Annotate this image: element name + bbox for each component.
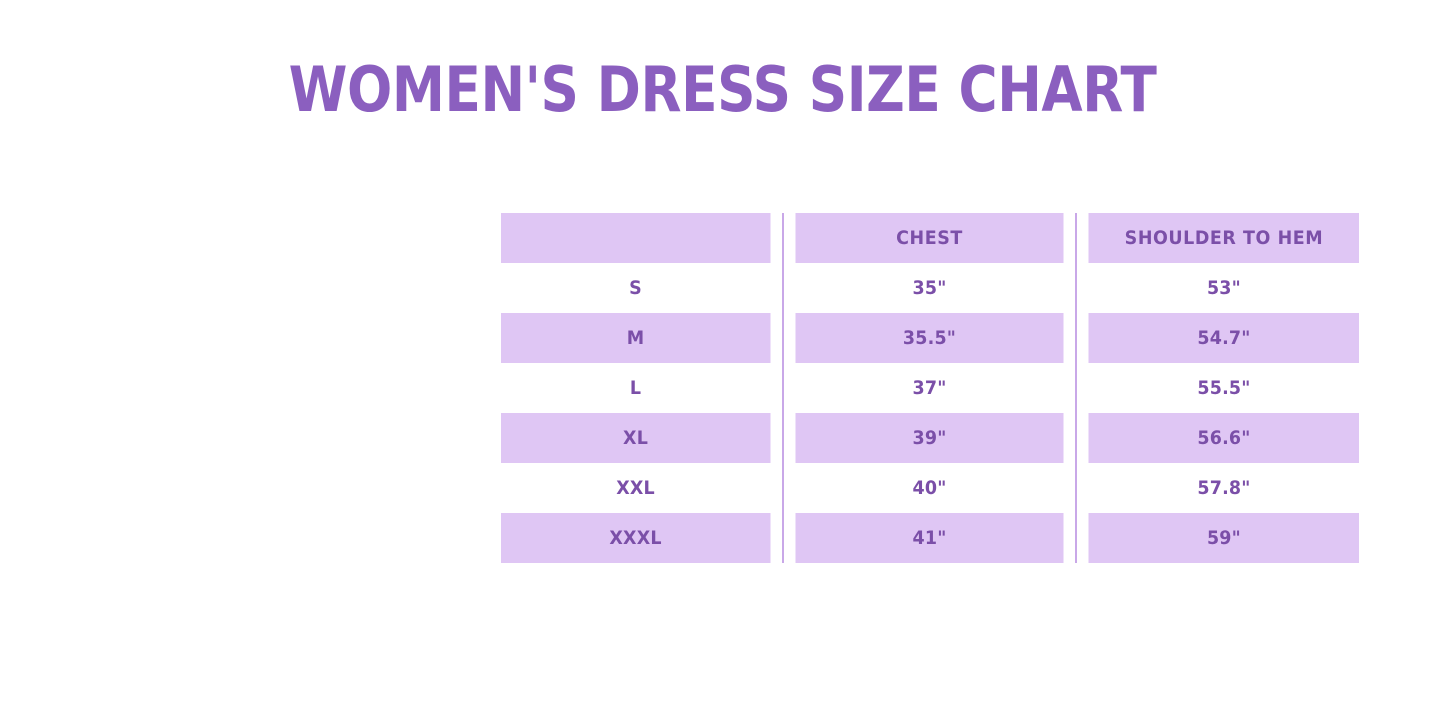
cell-shoulder-to-hem: 59" [1088, 513, 1359, 563]
cell-size: XXXL [501, 513, 771, 563]
table-header-row: CHEST SHOULDER TO HEM [489, 213, 1371, 263]
column-header-chest: CHEST [795, 213, 1065, 263]
table-body: S 35" 53" M 35.5" 54.7" L 37" 55.5" XL 3… [489, 263, 1371, 563]
cell-size: M [501, 313, 771, 363]
table-row: M 35.5" 54.7" [489, 313, 1371, 363]
cell-size: L [501, 363, 771, 413]
cell-chest: 39" [795, 413, 1065, 463]
cell-chest: 35" [795, 263, 1065, 313]
size-chart-page: WOMEN'S DRESS SIZE CHART CHEST SHOULDER … [0, 0, 1445, 723]
table-row: XXXL 41" 59" [489, 513, 1371, 563]
cell-shoulder-to-hem: 54.7" [1088, 313, 1359, 363]
size-chart-table: CHEST SHOULDER TO HEM S 35" 53" M 35.5" … [489, 213, 1371, 563]
cell-chest: 40" [795, 463, 1065, 513]
table-row: S 35" 53" [489, 263, 1371, 313]
table-row: XL 39" 56.6" [489, 413, 1371, 463]
page-title: WOMEN'S DRESS SIZE CHART [101, 52, 1344, 128]
cell-chest: 41" [795, 513, 1065, 563]
cell-shoulder-to-hem: 56.6" [1088, 413, 1359, 463]
cell-shoulder-to-hem: 53" [1088, 263, 1359, 313]
cell-size: S [501, 263, 771, 313]
column-header-shoulder-to-hem: SHOULDER TO HEM [1088, 213, 1359, 263]
cell-shoulder-to-hem: 55.5" [1088, 363, 1359, 413]
column-header-size [501, 213, 771, 263]
cell-size: XXL [501, 463, 771, 513]
cell-chest: 35.5" [795, 313, 1065, 363]
cell-chest: 37" [795, 363, 1065, 413]
table-row: L 37" 55.5" [489, 363, 1371, 413]
table-header: CHEST SHOULDER TO HEM [489, 213, 1371, 263]
cell-shoulder-to-hem: 57.8" [1088, 463, 1359, 513]
table-row: XXL 40" 57.8" [489, 463, 1371, 513]
cell-size: XL [501, 413, 771, 463]
